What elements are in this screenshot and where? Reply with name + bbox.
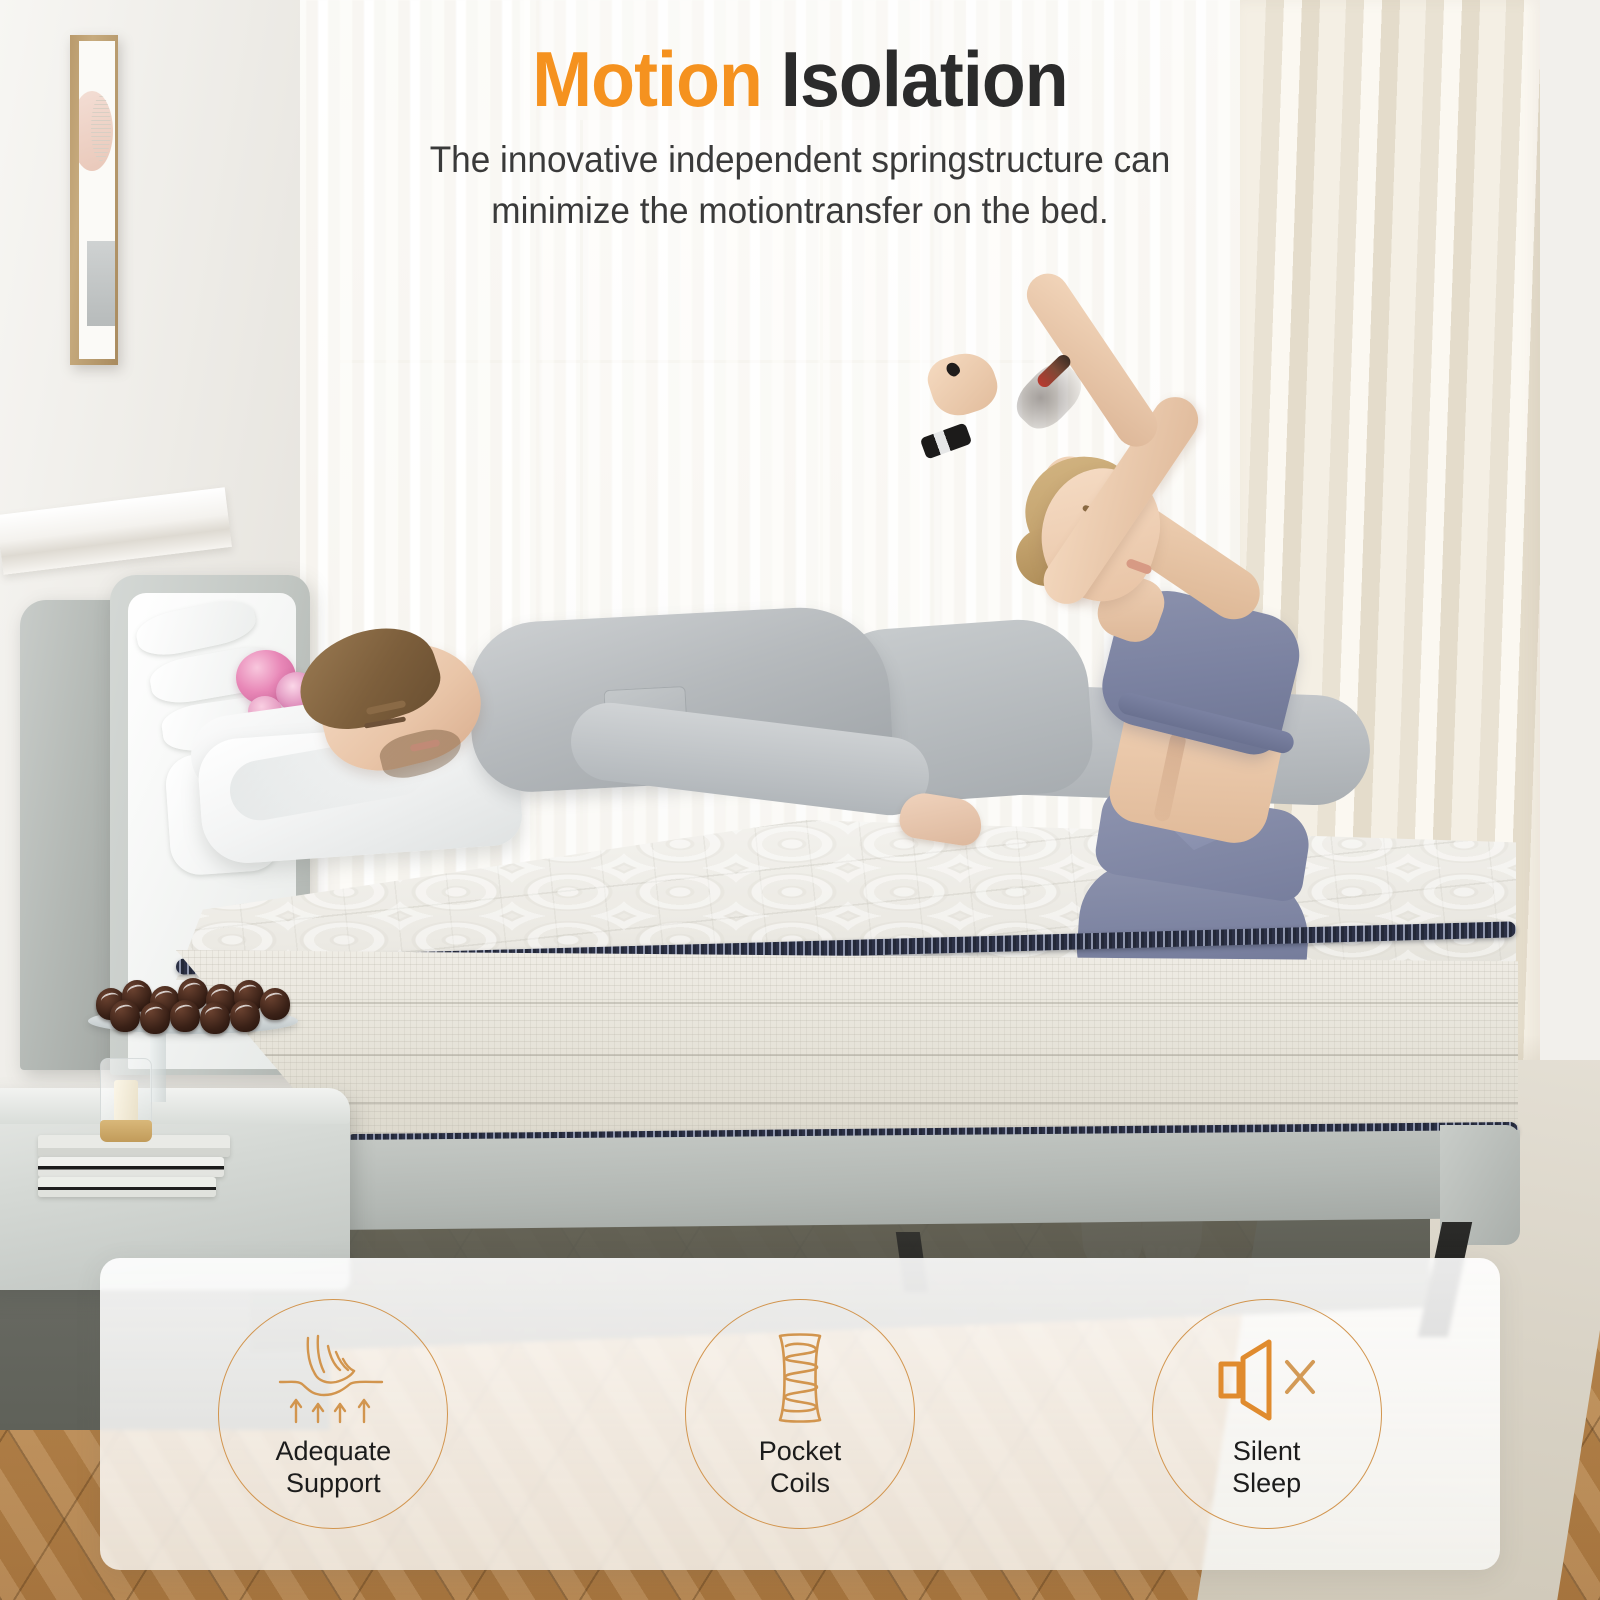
candle-wood-base xyxy=(100,1120,152,1142)
feature-circle: Pocket Coils xyxy=(685,1299,915,1529)
title-accent-word: Motion xyxy=(532,35,762,123)
title-rest-word: Isolation xyxy=(781,35,1068,123)
woman-clasped-hands xyxy=(922,345,1003,422)
feature-label: Pocket Coils xyxy=(759,1436,842,1500)
page-subtitle: The innovative independent springstructu… xyxy=(40,134,1560,236)
feature-label-line-1: Adequate xyxy=(276,1436,392,1468)
feature-label-line-2: Sleep xyxy=(1232,1468,1301,1500)
feature-highlights-panel: Adequate Support Pocket Coils xyxy=(100,1258,1500,1570)
muted-speaker-icon xyxy=(1213,1328,1321,1424)
feature-label-line-1: Silent xyxy=(1232,1436,1301,1468)
feature-adequate-support[interactable]: Adequate Support xyxy=(100,1258,567,1570)
chocolate-truffles xyxy=(96,978,292,1022)
subtitle-line-1: The innovative independent springstructu… xyxy=(40,134,1560,185)
nightstand-tabletop xyxy=(0,1088,350,1124)
mattress-side-panel xyxy=(176,950,1518,1140)
feature-label: Adequate Support xyxy=(276,1436,392,1500)
pocket-coil-spring-icon xyxy=(760,1328,840,1424)
page-title: Motion Isolation xyxy=(64,40,1536,120)
bed-frame xyxy=(330,1130,1520,1230)
product-marketing-image: Motion Isolation The innovative independ… xyxy=(0,0,1600,1600)
stacked-books xyxy=(38,1135,230,1197)
wall-art-rect-shape xyxy=(87,241,115,326)
feature-label: Silent Sleep xyxy=(1232,1436,1301,1500)
feature-pocket-coils[interactable]: Pocket Coils xyxy=(567,1258,1034,1570)
feature-label-line-1: Pocket xyxy=(759,1436,842,1468)
hand-press-support-icon xyxy=(274,1328,392,1424)
feature-label-line-2: Coils xyxy=(759,1468,842,1500)
pillar-candle xyxy=(114,1080,138,1122)
heading-block: Motion Isolation The innovative independ… xyxy=(0,40,1600,236)
subtitle-line-2: minimize the motiontransfer on the bed. xyxy=(40,185,1560,236)
woman-nail xyxy=(944,360,962,378)
book xyxy=(38,1177,216,1197)
feature-circle: Silent Sleep xyxy=(1152,1299,1382,1529)
feature-silent-sleep[interactable]: Silent Sleep xyxy=(1033,1258,1500,1570)
feature-label-line-2: Support xyxy=(276,1468,392,1500)
book xyxy=(38,1157,224,1177)
feature-circle: Adequate Support xyxy=(218,1299,448,1529)
